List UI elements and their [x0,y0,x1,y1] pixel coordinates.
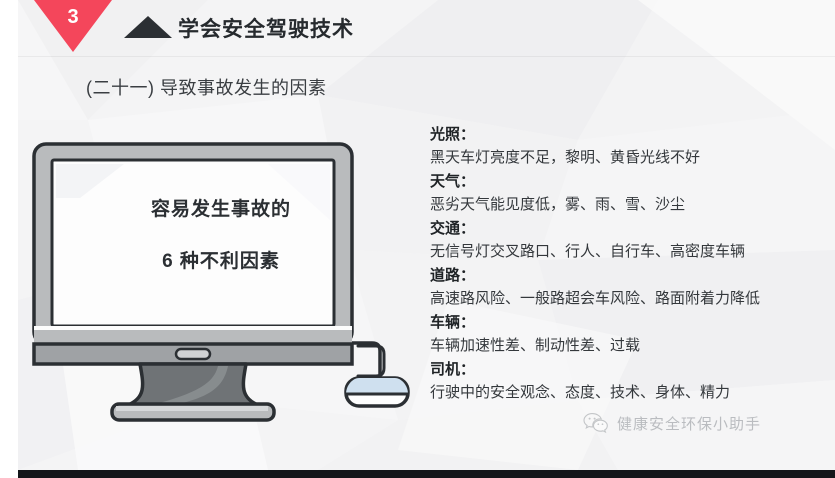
factor-item: 司机： 行驶中的安全观念、态度、技术、身体、精力 [430,359,830,405]
factor-heading: 司机： [430,359,830,381]
factor-heading: 交通： [430,218,830,240]
factor-item: 天气： 恶劣天气能见度低，雾、雨、雪、沙尘 [430,171,830,217]
slide-subtitle: (二十一) 导致事故发生的因素 [86,74,327,100]
factor-body: 黑天车灯亮度不足，黎明、黄昏光线不好 [430,146,830,170]
wechat-logo-icon [583,412,609,434]
section-number-label: 3 [34,6,112,28]
factor-item: 车辆： 车辆加速性差、制动性差、过载 [430,312,830,358]
watermark: 健康安全环保小助手 [583,412,761,434]
page-title: 学会安全驾驶技术 [178,13,354,43]
screen-message-line2: 6 种不利因素 [76,250,366,274]
factor-item: 交通： 无信号灯交叉路口、行人、自行车、高密度车辆 [430,218,830,264]
bottom-band-corner [0,470,18,478]
factor-item: 道路： 高速路风险、一般路超会车风险、路面附着力降低 [430,265,830,311]
factor-body: 高速路风险、一般路超会车风险、路面附着力降低 [430,287,830,311]
factor-body: 恶劣天气能见度低，雾、雨、雪、沙尘 [430,193,830,217]
factor-body: 行驶中的安全观念、态度、技术、身体、精力 [430,381,830,405]
header-divider [18,56,835,57]
factors-list: 光照： 黑天车灯亮度不足，黎明、黄昏光线不好 天气： 恶劣天气能见度低，雾、雨、… [430,124,830,406]
factor-heading: 道路： [430,265,830,287]
factor-item: 光照： 黑天车灯亮度不足，黎明、黄昏光线不好 [430,124,830,170]
screen-message-line1: 容易发生事故的 [76,198,366,222]
factor-heading: 车辆： [430,312,830,334]
watermark-text: 健康安全环保小助手 [617,413,761,434]
factor-heading: 天气： [430,171,830,193]
factor-heading: 光照： [430,124,830,146]
factor-body: 车辆加速性差、制动性差、过载 [430,334,830,358]
left-gutter [0,0,18,470]
screen-message: 容易发生事故的 6 种不利因素 [76,198,366,274]
monitor-illustration: 容易发生事故的 6 种不利因素 [28,140,418,430]
bottom-band [18,470,835,478]
section-number-badge: 3 [34,0,112,52]
factor-body: 无信号灯交叉路口、行人、自行车、高密度车辆 [430,240,830,264]
slide-canvas: 3 学会安全驾驶技术 (二十一) 导致事故发生的因素 [0,0,835,478]
slide-header: 3 学会安全驾驶技术 [18,0,835,56]
triangle-up-icon [124,16,172,38]
